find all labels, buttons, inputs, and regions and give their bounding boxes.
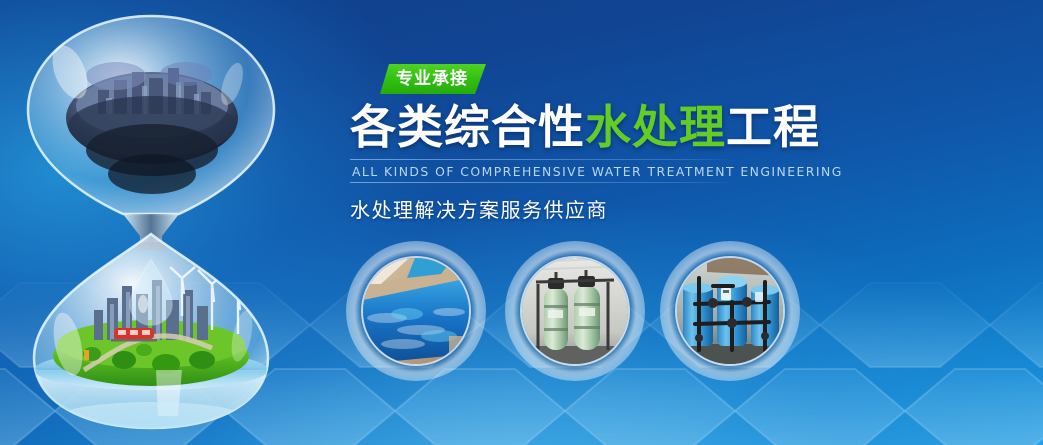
page-title: 各类综合性水处理工程 [350,100,770,154]
slogan-text: 水处理解决方案服务供应商 [350,196,770,224]
title-segment-2: 水处理 [585,100,726,154]
photo-industrial-plant[interactable] [669,250,791,372]
service-tag-label: 专业承接 [396,69,468,89]
service-tag-badge: 专业承接 [380,64,486,94]
circle-photo [522,258,628,364]
banner-text-block: 专业承接 各类综合性水处理工程 ALL KINDS OF COMPREHENSI… [350,64,770,224]
water-treatment-banner: 专业承接 各类综合性水处理工程 ALL KINDS OF COMPREHENSI… [0,0,1043,445]
photo-swimming-pool[interactable] [355,250,477,372]
subtitle-rule-bottom [350,182,735,183]
subtitle-block: ALL KINDS OF COMPREHENSIVE WATER TREATME… [350,159,735,183]
title-segment-3: 工程 [726,100,820,154]
photo-circle-group [355,250,795,375]
hourglass-icon [6,0,296,445]
circle-photo [677,258,783,364]
photo-filtration-tanks[interactable] [514,250,636,372]
circle-photo [363,258,469,364]
subtitle-english: ALL KINDS OF COMPREHENSIVE WATER TREATME… [350,160,735,182]
title-segment-1: 各类综合性 [350,100,585,154]
